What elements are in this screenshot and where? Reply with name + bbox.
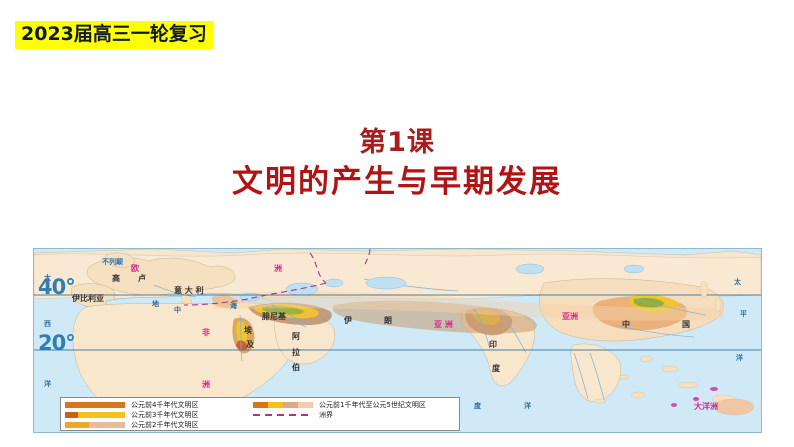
legend-label: 公元前3千年代文明区 bbox=[131, 410, 198, 420]
legend-column-right: 公元前1千年代至公元5世纪文明区 洲界 bbox=[253, 400, 426, 428]
legend-item: 洲界 bbox=[253, 410, 426, 420]
legend-swatch-3rd-millennium bbox=[65, 412, 125, 418]
map-legend: 公元前4千年代文明区 公元前3千年代文明区 公元前2千年代文明区 公元前1千年代… bbox=[60, 397, 460, 431]
latitude-label-40: 40° bbox=[38, 275, 75, 299]
legend-label: 公元前2千年代文明区 bbox=[131, 420, 198, 430]
legend-swatch-1st-millennium-to-5thc bbox=[253, 402, 313, 408]
legend-label: 洲界 bbox=[319, 410, 333, 420]
lesson-number: 第1课 bbox=[0, 125, 794, 161]
legend-item: 公元前1千年代至公元5世纪文明区 bbox=[253, 400, 426, 410]
latitude-label-20: 20° bbox=[38, 331, 75, 355]
legend-item: 公元前3千年代文明区 bbox=[65, 410, 243, 420]
lesson-title: 文明的产生与早期发展 bbox=[0, 161, 794, 203]
course-banner: 2023届高三一轮复习 bbox=[15, 21, 213, 49]
legend-swatch-4th-millennium bbox=[65, 402, 125, 408]
page-title: 第1课 文明的产生与早期发展 bbox=[0, 125, 794, 203]
legend-item: 公元前4千年代文明区 bbox=[65, 400, 243, 410]
slide-canvas: 2023届高三一轮复习 第1课 文明的产生与早期发展 bbox=[0, 0, 794, 447]
legend-label: 公元前4千年代文明区 bbox=[131, 400, 198, 410]
legend-column-left: 公元前4千年代文明区 公元前3千年代文明区 公元前2千年代文明区 bbox=[65, 400, 243, 428]
legend-label: 公元前1千年代至公元5世纪文明区 bbox=[319, 400, 426, 410]
legend-swatch-2nd-millennium bbox=[65, 422, 125, 428]
legend-item: 公元前2千年代文明区 bbox=[65, 420, 243, 430]
legend-swatch-continent-boundary bbox=[253, 414, 313, 416]
